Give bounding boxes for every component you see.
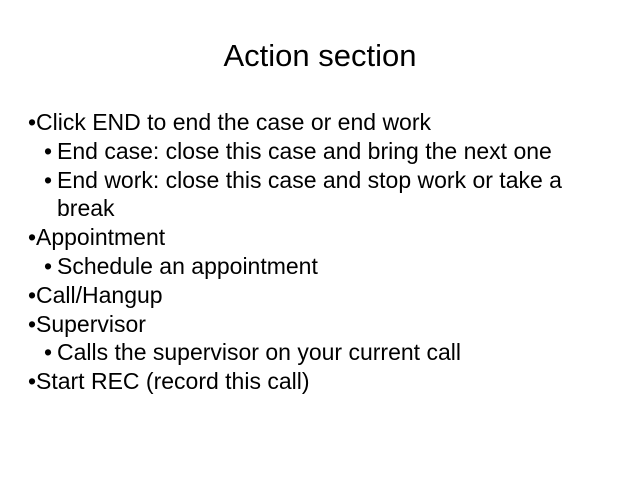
list-item: • Call/Hangup (28, 281, 614, 310)
bullet-icon: • (28, 281, 36, 310)
bullet-icon: • (44, 137, 57, 166)
list-item-label: Start REC (record this call) (36, 367, 614, 396)
list-item: • Schedule an appointment (28, 252, 614, 281)
bullet-icon: • (28, 310, 36, 339)
list-item-label: Schedule an appointment (57, 252, 614, 281)
page-title: Action section (0, 38, 640, 74)
list-item: • End case: close this case and bring th… (28, 137, 614, 166)
list-item: • End work: close this case and stop wor… (28, 166, 614, 224)
list-item: • Start REC (record this call) (28, 367, 614, 396)
bullet-list: • Click END to end the case or end work … (28, 108, 614, 396)
list-item-label: End case: close this case and bring the … (57, 137, 614, 166)
list-item-label: Call/Hangup (36, 281, 614, 310)
list-item-label: Calls the supervisor on your current cal… (57, 338, 614, 367)
list-item-label: Click END to end the case or end work (36, 108, 614, 137)
bullet-icon: • (44, 252, 57, 281)
bullet-icon: • (28, 367, 36, 396)
list-item: • Calls the supervisor on your current c… (28, 338, 614, 367)
list-item-label: End work: close this case and stop work … (57, 166, 614, 224)
bullet-icon: • (44, 338, 57, 367)
list-item: • Click END to end the case or end work (28, 108, 614, 137)
list-item: • Appointment (28, 223, 614, 252)
bullet-icon: • (28, 223, 36, 252)
list-item-label: Supervisor (36, 310, 614, 339)
list-item-label: Appointment (36, 223, 614, 252)
bullet-icon: • (44, 166, 57, 195)
list-item: • Supervisor (28, 310, 614, 339)
bullet-icon: • (28, 108, 36, 137)
presentation-slide: Action section • Click END to end the ca… (0, 0, 640, 480)
